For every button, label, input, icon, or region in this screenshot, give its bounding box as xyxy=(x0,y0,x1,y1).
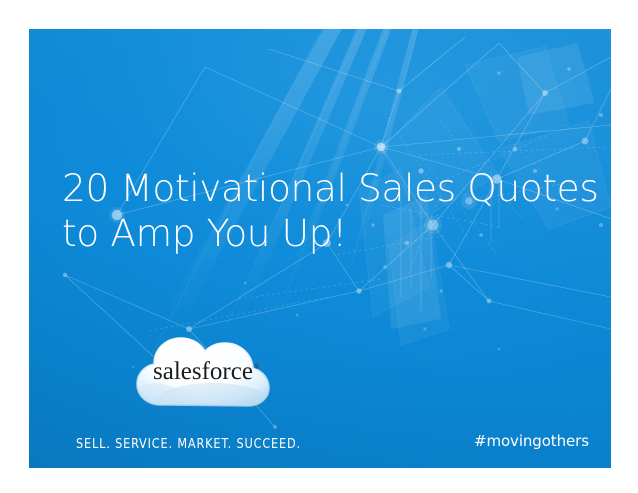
logo-trademark: ® xyxy=(254,363,260,371)
cloud-icon: salesforce ® xyxy=(121,321,281,421)
tagline: SELL. SERVICE. MARKET. SUCCEED. xyxy=(76,436,301,452)
title-line-2: to Amp You Up! xyxy=(62,211,582,256)
presentation-slide: 20 Motivational Sales Quotes to Amp You … xyxy=(29,29,611,468)
hashtag: #movingothers xyxy=(474,432,589,450)
logo-wordmark: salesforce xyxy=(153,358,253,385)
slide-title: 20 Motivational Sales Quotes to Amp You … xyxy=(62,166,582,256)
slide-canvas: 20 Motivational Sales Quotes to Amp You … xyxy=(0,0,638,493)
salesforce-logo: salesforce ® xyxy=(121,321,281,421)
title-line-1: 20 Motivational Sales Quotes xyxy=(62,166,582,211)
